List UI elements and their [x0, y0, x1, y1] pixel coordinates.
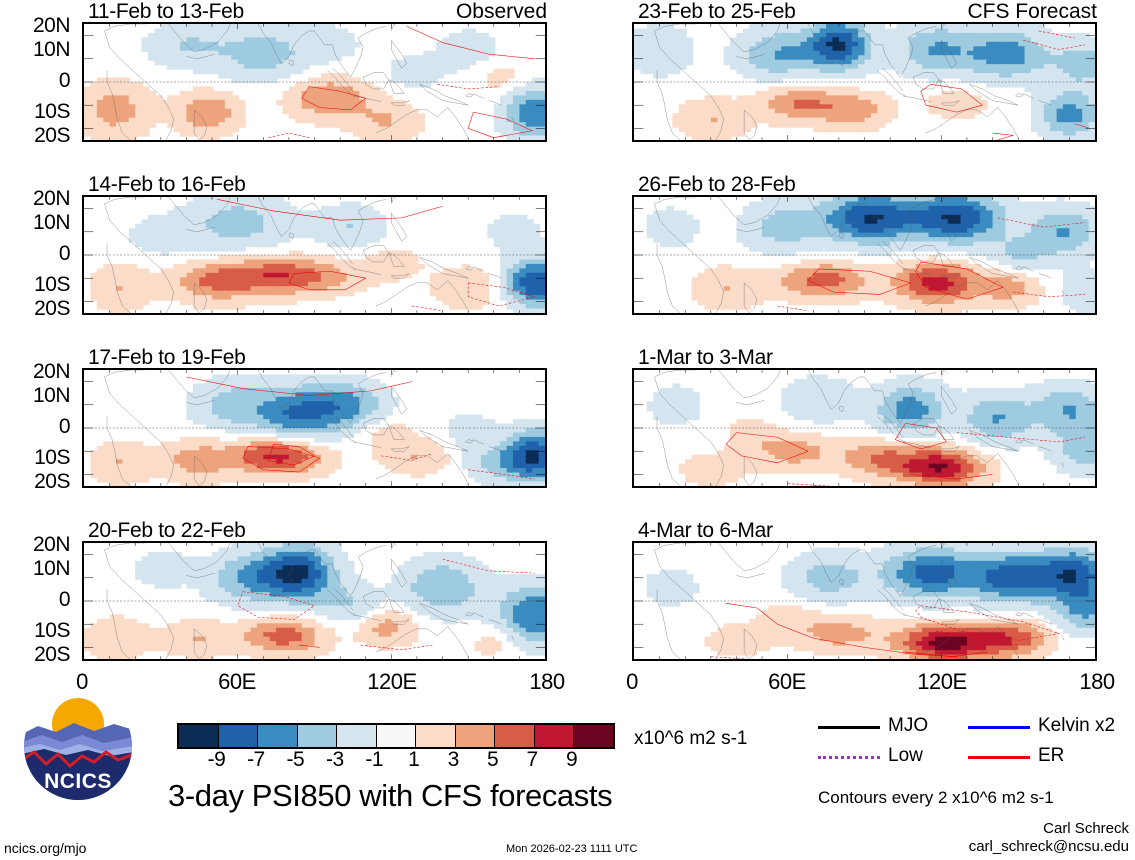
y-axis-label: 10S — [4, 619, 70, 643]
map-panel — [632, 22, 1097, 142]
legend-swatch-mjo — [818, 726, 880, 729]
map-panel — [82, 368, 547, 488]
y-axis-label: 10S — [4, 100, 70, 124]
panel-title: 23-Feb to 25-Feb — [638, 0, 795, 24]
y-axis-label: 0 — [4, 69, 70, 93]
y-axis-label: 20N — [4, 187, 70, 211]
y-axis-label: 10N — [4, 384, 70, 408]
legend-swatch-kelvin-x2 — [968, 726, 1030, 729]
panel-title: 11-Feb to 13-Feb — [88, 0, 244, 24]
colorbar-swatch — [573, 725, 613, 747]
colorbar-swatch — [179, 725, 218, 747]
y-axis-label: 10N — [4, 211, 70, 235]
panel-title: 20-Feb to 22-Feb — [88, 519, 245, 543]
y-axis-label: 10S — [4, 273, 70, 297]
panel-title: 14-Feb to 16-Feb — [88, 173, 245, 197]
y-axis-label: 0 — [4, 415, 70, 439]
footer-site-link[interactable]: ncics.org/mjo — [4, 840, 86, 856]
map-panel — [82, 22, 547, 142]
colorbar-swatch — [297, 725, 337, 747]
figure-title: 3-day PSI850 with CFS forecasts — [168, 778, 612, 814]
map-panel — [82, 195, 547, 315]
legend-swatch-er — [968, 756, 1030, 759]
y-axis-label: 20S — [4, 297, 70, 321]
column-heading-forecast: CFS Forecast — [917, 0, 1097, 24]
author-email[interactable]: carl_schreck@ncsu.edu — [969, 838, 1129, 855]
y-axis-label: 0 — [4, 242, 70, 266]
legend-label: ER — [1038, 745, 1064, 767]
colorbar-swatch — [455, 725, 495, 747]
y-axis-label: 20N — [4, 533, 70, 557]
legend-swatch-low — [818, 756, 880, 759]
panel-title: 26-Feb to 28-Feb — [638, 173, 795, 197]
colorbar-swatch — [257, 725, 297, 747]
x-axis-label: 120E — [352, 669, 432, 695]
y-axis-label: 20N — [4, 14, 70, 38]
x-axis-label: 180 — [507, 669, 587, 695]
legend-label: MJO — [888, 715, 928, 737]
panel-title: 4-Mar to 6-Mar — [638, 519, 773, 543]
colorbar-swatch — [494, 725, 534, 747]
footer-timestamp: Mon 2026-02-23 1111 UTC — [506, 843, 637, 855]
map-panel — [82, 541, 547, 661]
panel-title: 17-Feb to 19-Feb — [88, 346, 245, 370]
colorbar-swatch — [415, 725, 455, 747]
y-axis-label: 20S — [4, 643, 70, 667]
colorbar-units-label: x10^6 m2 s-1 — [634, 728, 747, 750]
ncics-logo: NCICS — [22, 690, 134, 802]
panel-title: 1-Mar to 3-Mar — [638, 346, 773, 370]
y-axis-label: 10N — [4, 38, 70, 62]
y-axis-label: 20S — [4, 470, 70, 494]
x-axis-label: 60E — [197, 669, 277, 695]
colorbar-swatch — [376, 725, 416, 747]
x-axis-label: 180 — [1057, 669, 1135, 695]
colorbar-swatch — [336, 725, 376, 747]
x-axis-label: 0 — [592, 669, 672, 695]
legend-label: Low — [888, 745, 923, 767]
map-panel — [632, 195, 1097, 315]
colorbar-swatch — [218, 725, 258, 747]
contour-interval-note: Contours every 2 x10^6 m2 s-1 — [818, 788, 1054, 808]
y-axis-label: 10N — [4, 557, 70, 581]
colorbar-tick-label: 9 — [547, 748, 597, 772]
x-axis-label: 60E — [747, 669, 827, 695]
x-axis-label: 120E — [902, 669, 982, 695]
y-axis-label: 20N — [4, 360, 70, 384]
legend-label: Kelvin x2 — [1038, 715, 1115, 737]
map-panel — [632, 368, 1097, 488]
author-name: Carl Schreck — [1043, 820, 1129, 837]
y-axis-label: 10S — [4, 446, 70, 470]
y-axis-label: 0 — [4, 588, 70, 612]
y-axis-label: 20S — [4, 124, 70, 148]
column-heading-observed: Observed — [397, 0, 547, 24]
colorbar-swatch — [534, 725, 574, 747]
map-panel — [632, 541, 1097, 661]
